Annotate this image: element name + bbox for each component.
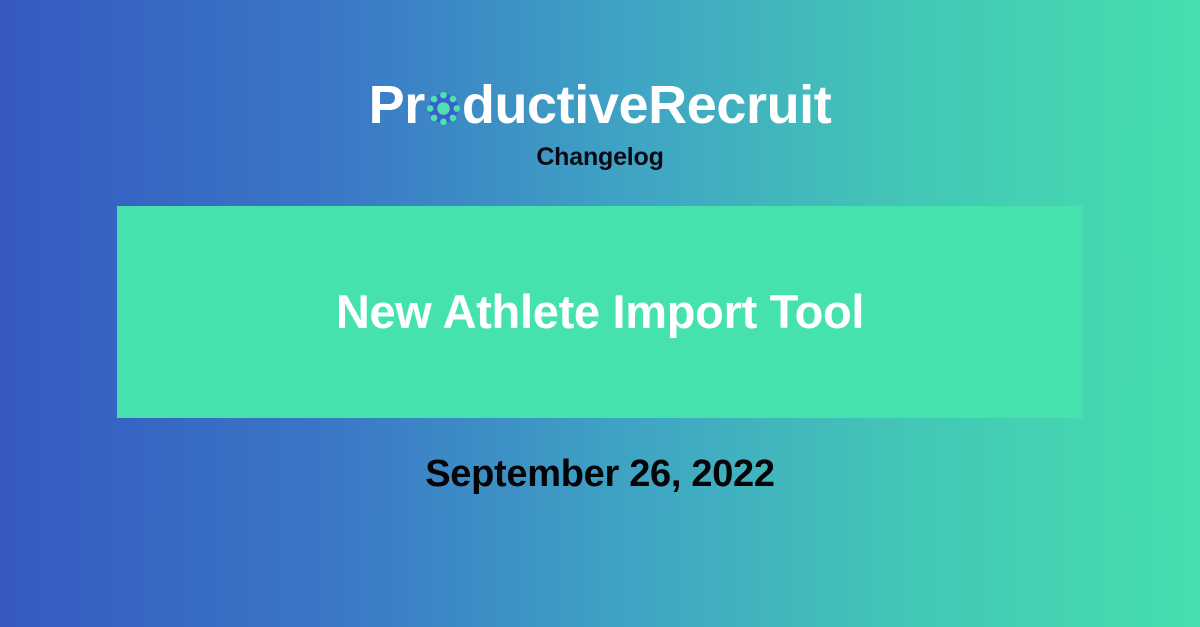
- entry-title-plate: New Athlete Import Tool: [117, 206, 1083, 418]
- page-title: New Athlete Import Tool: [312, 286, 888, 338]
- changelog-banner: Pr ductiveRecr: [0, 0, 1200, 627]
- page-subtitle-changelog: Changelog: [0, 142, 1200, 172]
- brand-name-suffix: ductiveRecruit: [462, 78, 832, 132]
- brand-logo[interactable]: Pr ductiveRecr: [0, 74, 1200, 136]
- entry-release-date: September 26, 2022: [0, 452, 1200, 498]
- brand-name-prefix: Pr: [369, 78, 425, 132]
- brand-wordmark: Pr ductiveRecr: [369, 78, 832, 132]
- gear-icon: [426, 91, 461, 126]
